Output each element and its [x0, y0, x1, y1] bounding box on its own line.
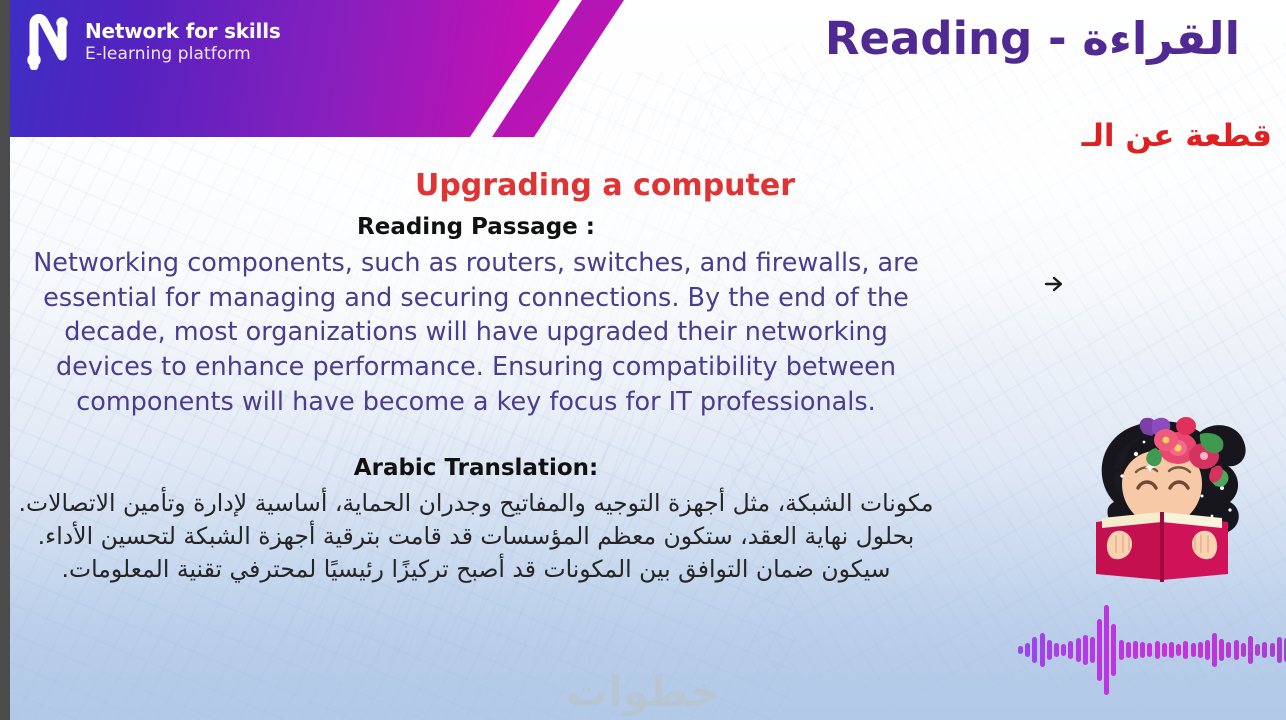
- waveform-bar: [1277, 637, 1282, 663]
- waveform-bar: [1183, 641, 1188, 659]
- page-title: القراءة - Reading: [825, 12, 1240, 65]
- waveform-bar: [1226, 642, 1231, 658]
- waveform-bar: [1191, 643, 1196, 657]
- waveform-bar: [1212, 633, 1217, 667]
- brand-name: Network for skills: [85, 21, 281, 41]
- waveform-bar: [1025, 643, 1030, 657]
- brand-tagline: E-learning platform: [85, 46, 281, 63]
- waveform-bar: [1155, 641, 1160, 659]
- waveform-bar: [1234, 640, 1239, 660]
- waveform-bar: [1090, 637, 1095, 663]
- waveform-bar: [1111, 624, 1116, 676]
- content-area: Upgrading a computer Reading Passage : N…: [0, 160, 952, 586]
- waveform-bar: [1068, 641, 1073, 659]
- waveform-bar: [1147, 643, 1152, 657]
- waveform-bar: [1219, 639, 1224, 661]
- translation-label: Arabic Translation:: [0, 455, 952, 481]
- waveform-bar: [1054, 643, 1059, 657]
- waveform-bar: [1140, 642, 1145, 658]
- waveform-bar: [1119, 640, 1124, 660]
- waveform-bar: [1270, 643, 1275, 657]
- brand-logo[interactable]: Network for skills E-learning platform: [24, 14, 281, 70]
- passage-label: Reading Passage :: [0, 214, 952, 240]
- slide-canvas: Network for skills E-learning platform ا…: [0, 0, 1286, 720]
- page-subtitle: قطعة عن الـ: [1082, 118, 1272, 154]
- waveform-bar: [1162, 643, 1167, 657]
- waveform-bar: [1047, 640, 1052, 660]
- waveform-bar: [1262, 642, 1267, 658]
- waveform-bar: [1255, 644, 1260, 656]
- waveform-bar: [1083, 635, 1088, 665]
- left-edge-rail: [0, 0, 10, 720]
- girl-reading-book-illustration: [1052, 392, 1276, 600]
- audio-waveform-icon[interactable]: [1018, 614, 1286, 686]
- waveform-bar: [1097, 619, 1102, 681]
- translation-text: مكونات الشبكة، مثل أجهزة التوجيه والمفات…: [14, 487, 938, 586]
- waveform-bar: [1248, 636, 1253, 664]
- waveform-bar: [1241, 643, 1246, 657]
- passage-text: Networking components, such as routers, …: [18, 246, 934, 419]
- waveform-bar: [1126, 642, 1131, 658]
- lesson-title: Upgrading a computer: [0, 168, 952, 203]
- waveform-bar: [1133, 641, 1138, 659]
- waveform-bar: [1169, 642, 1174, 658]
- waveform-bar: [1018, 646, 1023, 654]
- network-n-logo-icon: [24, 14, 76, 70]
- right-arrow-icon: [1044, 275, 1064, 293]
- waveform-bar: [1032, 637, 1037, 663]
- waveform-bar: [1198, 642, 1203, 658]
- waveform-bar: [1040, 633, 1045, 667]
- waveform-bar: [1076, 638, 1081, 662]
- waveform-bar: [1104, 605, 1109, 695]
- waveform-bar: [1061, 644, 1066, 656]
- waveform-bar: [1176, 644, 1181, 656]
- waveform-bar: [1205, 640, 1210, 660]
